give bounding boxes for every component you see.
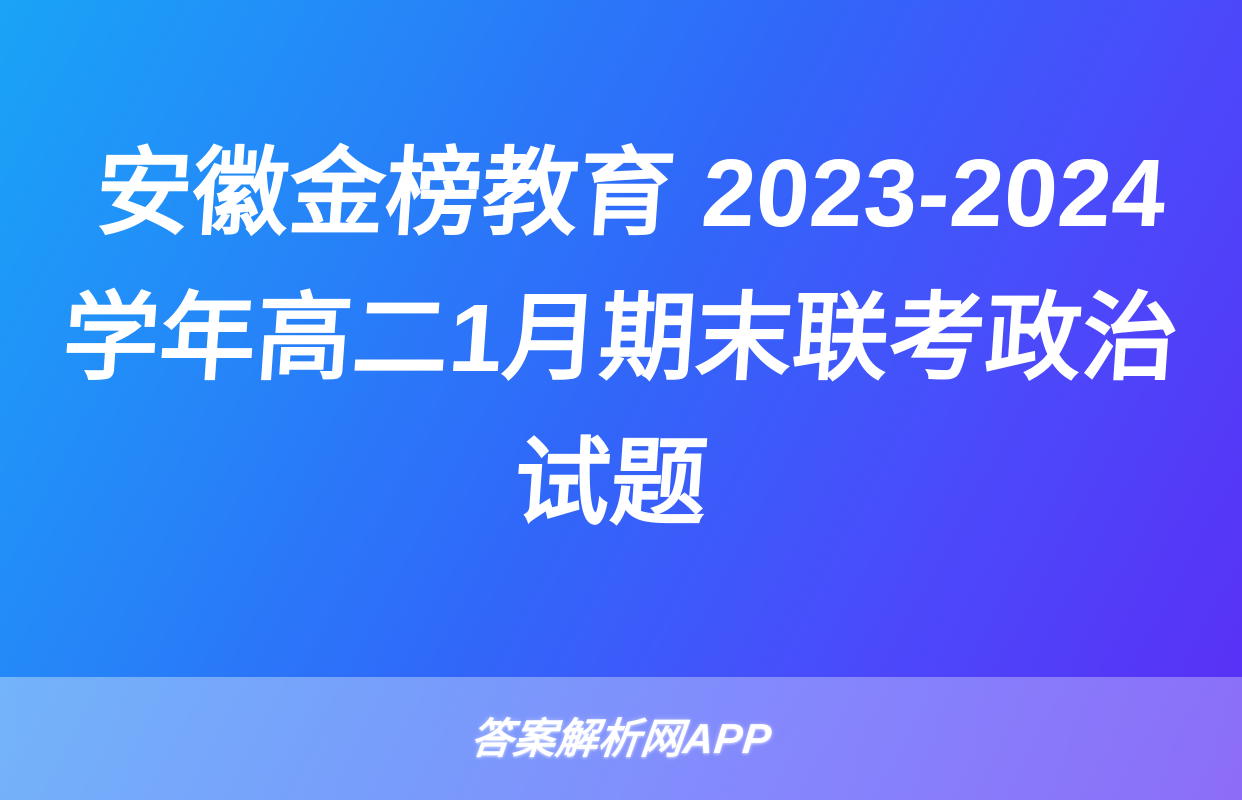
watermark-band: 答案解析网APP <box>0 677 1242 800</box>
headline-area: 安徽金榜教育 2023-2024学年高二1月期末联考政治试题 <box>0 0 1242 677</box>
title-card: 安徽金榜教育 2023-2024学年高二1月期末联考政治试题 答案解析网APP <box>0 0 1242 800</box>
watermark-text: 答案解析网APP <box>469 718 774 760</box>
page-title: 安徽金榜教育 2023-2024学年高二1月期末联考政治试题 <box>45 121 1197 556</box>
